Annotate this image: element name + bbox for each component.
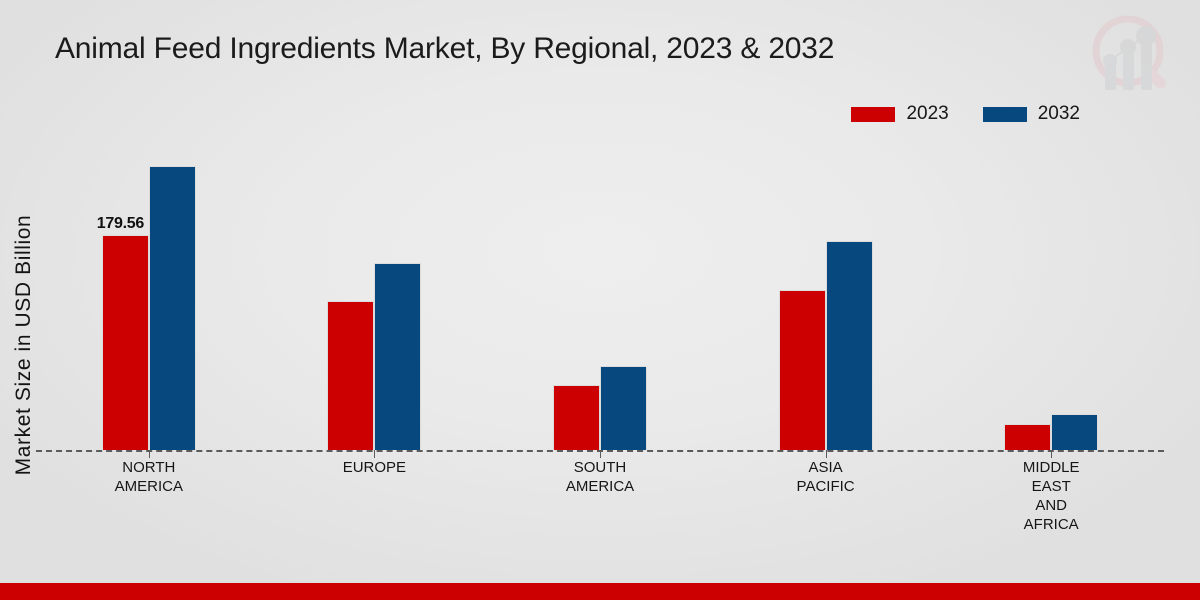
bar-pair [779,150,873,450]
bar-2023[interactable] [327,301,374,450]
category-label: MIDDLEEASTANDAFRICA [1023,458,1080,534]
bar-pair [327,150,421,450]
x-axis-tick [149,450,150,458]
legend-swatch-2023 [851,107,895,122]
bar-2032[interactable] [1051,414,1098,450]
bar-2032[interactable] [149,166,196,450]
bar-pair [102,150,196,450]
bar-pair [553,150,647,450]
legend-item-2032[interactable]: 2032 [983,103,1080,125]
x-axis-tick [826,450,827,458]
footer-accent-bar [0,583,1200,600]
bar-2023[interactable] [553,385,600,450]
bar-group: 179.56NORTHAMERICA [36,150,262,450]
bar-group: EUROPE [262,150,488,450]
legend-label-2032: 2032 [1038,103,1080,125]
bar-2023[interactable] [779,290,826,450]
magnifier-bar-chart-logo-icon [1078,6,1182,106]
legend-label-2023: 2023 [906,103,948,125]
bar-value-label: 179.56 [97,215,144,233]
category-label: SOUTHAMERICA [566,458,634,496]
bar-2023[interactable] [102,235,149,450]
bar-group: MIDDLEEASTANDAFRICA [938,150,1164,450]
bar-2032[interactable] [600,366,647,450]
bar-group: SOUTHAMERICA [487,150,713,450]
x-axis-tick [600,450,601,458]
legend-item-2023[interactable]: 2023 [851,103,948,125]
x-axis-tick [1051,450,1052,458]
bar-2032[interactable] [374,263,421,450]
legend-swatch-2032 [983,107,1027,122]
bar-group: ASIAPACIFIC [713,150,939,450]
x-axis-tick [374,450,375,458]
category-label: ASIAPACIFIC [797,458,855,496]
chart-legend: 2023 2032 [851,103,1080,125]
chart-canvas: Animal Feed Ingredients Market, By Regio… [0,0,1200,600]
y-axis-title: Market Size in USD Billion [12,135,36,555]
chart-title: Animal Feed Ingredients Market, By Regio… [55,32,834,66]
bar-pair [1004,150,1098,450]
plot-area: 179.56NORTHAMERICAEUROPESOUTHAMERICAASIA… [36,150,1164,450]
category-label: EUROPE [343,458,406,477]
bar-groups: 179.56NORTHAMERICAEUROPESOUTHAMERICAASIA… [36,150,1164,450]
bar-2023[interactable] [1004,424,1051,450]
bar-2032[interactable] [826,241,873,450]
category-label: NORTHAMERICA [115,458,183,496]
